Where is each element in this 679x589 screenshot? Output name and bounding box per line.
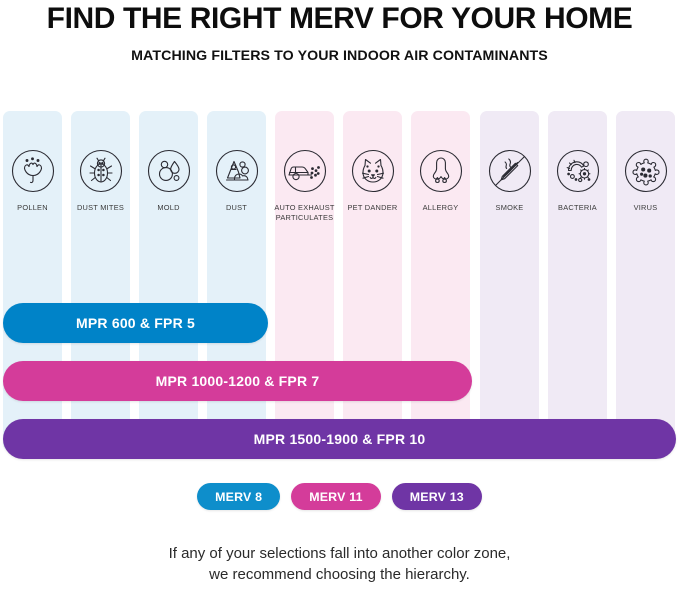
contaminant-label: BACTERIA [541,203,614,213]
contaminant-label: PET DANDER [336,203,409,213]
pollen-flower-icon [10,148,56,194]
contaminant-label: AUTO EXHAUST PARTICULATES [268,203,341,222]
page-subtitle: MATCHING FILTERS TO YOUR INDOOR AIR CONT… [0,48,679,64]
rating-bar-merv11[interactable]: MPR 1000-1200 & FPR 7 [3,361,472,401]
contaminant-column-smoke[interactable]: SMOKE [480,111,539,451]
footer-line-1: If any of your selections fall into anot… [0,543,679,564]
contaminant-label: MOLD [132,203,205,213]
page-title: FIND THE RIGHT MERV FOR YOUR HOME [0,2,679,36]
legend-pill-merv11[interactable]: MERV 11 [291,483,381,510]
footer-note: If any of your selections fall into anot… [0,543,679,585]
merv-legend: MERV 8 MERV 11 MERV 13 [0,483,679,510]
contaminant-label: DUST MITES [64,203,137,213]
bacteria-germs-icon [555,148,601,194]
mold-spores-icon [146,148,192,194]
virus-cell-icon [623,148,669,194]
dust-cloud-icon [214,148,260,194]
footer-line-2: we recommend choosing the hierarchy. [0,564,679,585]
contaminant-column-virus[interactable]: VIRUS [616,111,675,451]
rating-bar-merv13[interactable]: MPR 1500-1900 & FPR 10 [3,419,676,459]
legend-pill-merv8[interactable]: MERV 8 [197,483,280,510]
rating-bar-merv8[interactable]: MPR 600 & FPR 5 [3,303,268,343]
cat-face-icon [350,148,396,194]
car-exhaust-icon [282,148,328,194]
contaminant-label: ALLERGY [404,203,477,213]
no-smoking-cigarette-icon [487,148,533,194]
dust-mite-bug-icon [78,148,124,194]
contaminant-label: SMOKE [473,203,546,213]
contaminant-label: POLLEN [0,203,69,213]
legend-pill-merv13[interactable]: MERV 13 [392,483,482,510]
contaminant-column-bacteria[interactable]: BACTERIA [548,111,607,451]
contaminant-label: DUST [200,203,273,213]
contaminant-label: VIRUS [609,203,679,213]
nose-drip-icon [418,148,464,194]
